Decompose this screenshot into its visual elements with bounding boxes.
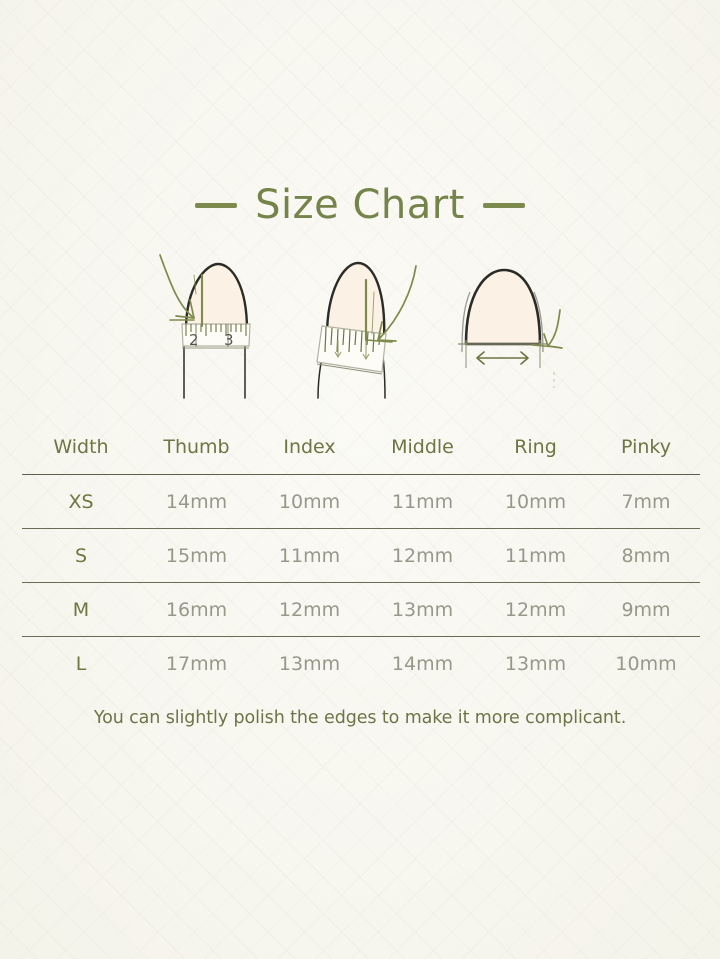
measurement-diagrams: 2 3 bbox=[148, 248, 576, 400]
cell-l-index: 13mm bbox=[253, 637, 366, 691]
cell-l-middle: 14mm bbox=[366, 637, 479, 691]
cell-s-thumb: 15mm bbox=[140, 529, 253, 583]
size-label-m: M bbox=[22, 583, 140, 637]
diagram-nail-width-arrow bbox=[444, 248, 576, 400]
cell-l-pinky: 10mm bbox=[592, 637, 700, 691]
ruler-mark-3: 3 bbox=[224, 331, 234, 349]
title-dash-left bbox=[195, 203, 237, 208]
table-row: S 15mm 11mm 12mm 11mm 8mm bbox=[22, 529, 700, 583]
page-title: Size Chart bbox=[255, 183, 465, 227]
table-row: L 17mm 13mm 14mm 13mm 10mm bbox=[22, 637, 700, 691]
cell-l-ring: 13mm bbox=[479, 637, 592, 691]
table-head: Width Thumb Index Middle Ring Pinky bbox=[22, 424, 700, 475]
title-dash-right bbox=[483, 203, 525, 208]
footnote-text: You can slightly polish the edges to mak… bbox=[0, 708, 720, 728]
diagram-finger-ruler-horizontal: 2 3 bbox=[148, 248, 280, 400]
cell-s-index: 11mm bbox=[253, 529, 366, 583]
cell-xs-index: 10mm bbox=[253, 475, 366, 529]
cell-xs-pinky: 7mm bbox=[592, 475, 700, 529]
column-header-index: Index bbox=[253, 424, 366, 475]
diagram-finger-ruler-ticks bbox=[296, 248, 428, 400]
cell-s-pinky: 8mm bbox=[592, 529, 700, 583]
table-header-row: Width Thumb Index Middle Ring Pinky bbox=[22, 424, 700, 475]
size-label-l: L bbox=[22, 637, 140, 691]
cell-m-middle: 13mm bbox=[366, 583, 479, 637]
cell-s-ring: 11mm bbox=[479, 529, 592, 583]
size-chart-table: Width Thumb Index Middle Ring Pinky XS 1… bbox=[22, 424, 700, 690]
table-body: XS 14mm 10mm 11mm 10mm 7mm S 15mm 11mm 1… bbox=[22, 475, 700, 691]
cell-m-pinky: 9mm bbox=[592, 583, 700, 637]
page-title-block: Size Chart bbox=[0, 183, 720, 227]
column-header-thumb: Thumb bbox=[140, 424, 253, 475]
cell-xs-middle: 11mm bbox=[366, 475, 479, 529]
column-header-width: Width bbox=[22, 424, 140, 475]
size-label-xs: XS bbox=[22, 475, 140, 529]
cell-m-thumb: 16mm bbox=[140, 583, 253, 637]
cell-xs-thumb: 14mm bbox=[140, 475, 253, 529]
cell-xs-ring: 10mm bbox=[479, 475, 592, 529]
column-header-ring: Ring bbox=[479, 424, 592, 475]
column-header-pinky: Pinky bbox=[592, 424, 700, 475]
ruler-mark-2: 2 bbox=[189, 331, 199, 349]
cell-s-middle: 12mm bbox=[366, 529, 479, 583]
table-row: M 16mm 12mm 13mm 12mm 9mm bbox=[22, 583, 700, 637]
cell-l-thumb: 17mm bbox=[140, 637, 253, 691]
table-row: XS 14mm 10mm 11mm 10mm 7mm bbox=[22, 475, 700, 529]
cell-m-index: 12mm bbox=[253, 583, 366, 637]
cell-m-ring: 12mm bbox=[479, 583, 592, 637]
size-label-s: S bbox=[22, 529, 140, 583]
column-header-middle: Middle bbox=[366, 424, 479, 475]
